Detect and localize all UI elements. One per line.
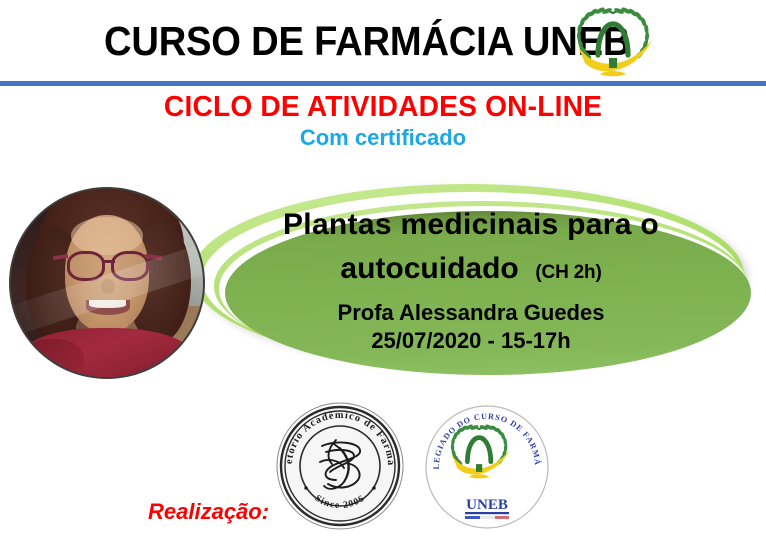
event-title-line2-text: autocuidado [340,252,518,285]
colegiado-do-curso-de-farmacia-seal-icon: COLEGIADO DO CURSO DE FARMÁCIA [424,404,550,530]
header-divider [0,81,766,86]
event-speaker: Profa Alessandra Guedes [206,300,736,326]
diretorio-academico-de-farmacia-seal-icon: Diretório Acadêmico de Farmácia Since 20… [274,400,406,532]
photo-forehead [71,217,144,255]
event-title-line2: autocuidado (CH 2h) [206,251,736,291]
event-workload: (CH 2h) [535,262,601,283]
certificate-subtitle: Com certificado [0,124,766,152]
photo-glasses-bridge [103,260,115,263]
event-datetime: 25/07/2020 - 15-17h [206,328,736,354]
poster-canvas: CURSO DE FARMÁCIA UNEB [0,0,766,540]
page-title: CURSO DE FARMÁCIA UNEB [104,14,541,68]
speaker-photo [9,187,205,379]
photo-shirt-left [15,339,84,379]
cycle-subtitle: CICLO DE ATIVIDADES ON-LINE [11,90,754,124]
pharmacy-laurel-mortar-logo-icon [568,4,658,82]
event-title-line1: Plantas medicinais para o [206,207,736,243]
event-banner-text: Plantas medicinais para o autocuidado (C… [206,178,736,374]
seal-col-uneb-label: UNEB [466,497,508,513]
